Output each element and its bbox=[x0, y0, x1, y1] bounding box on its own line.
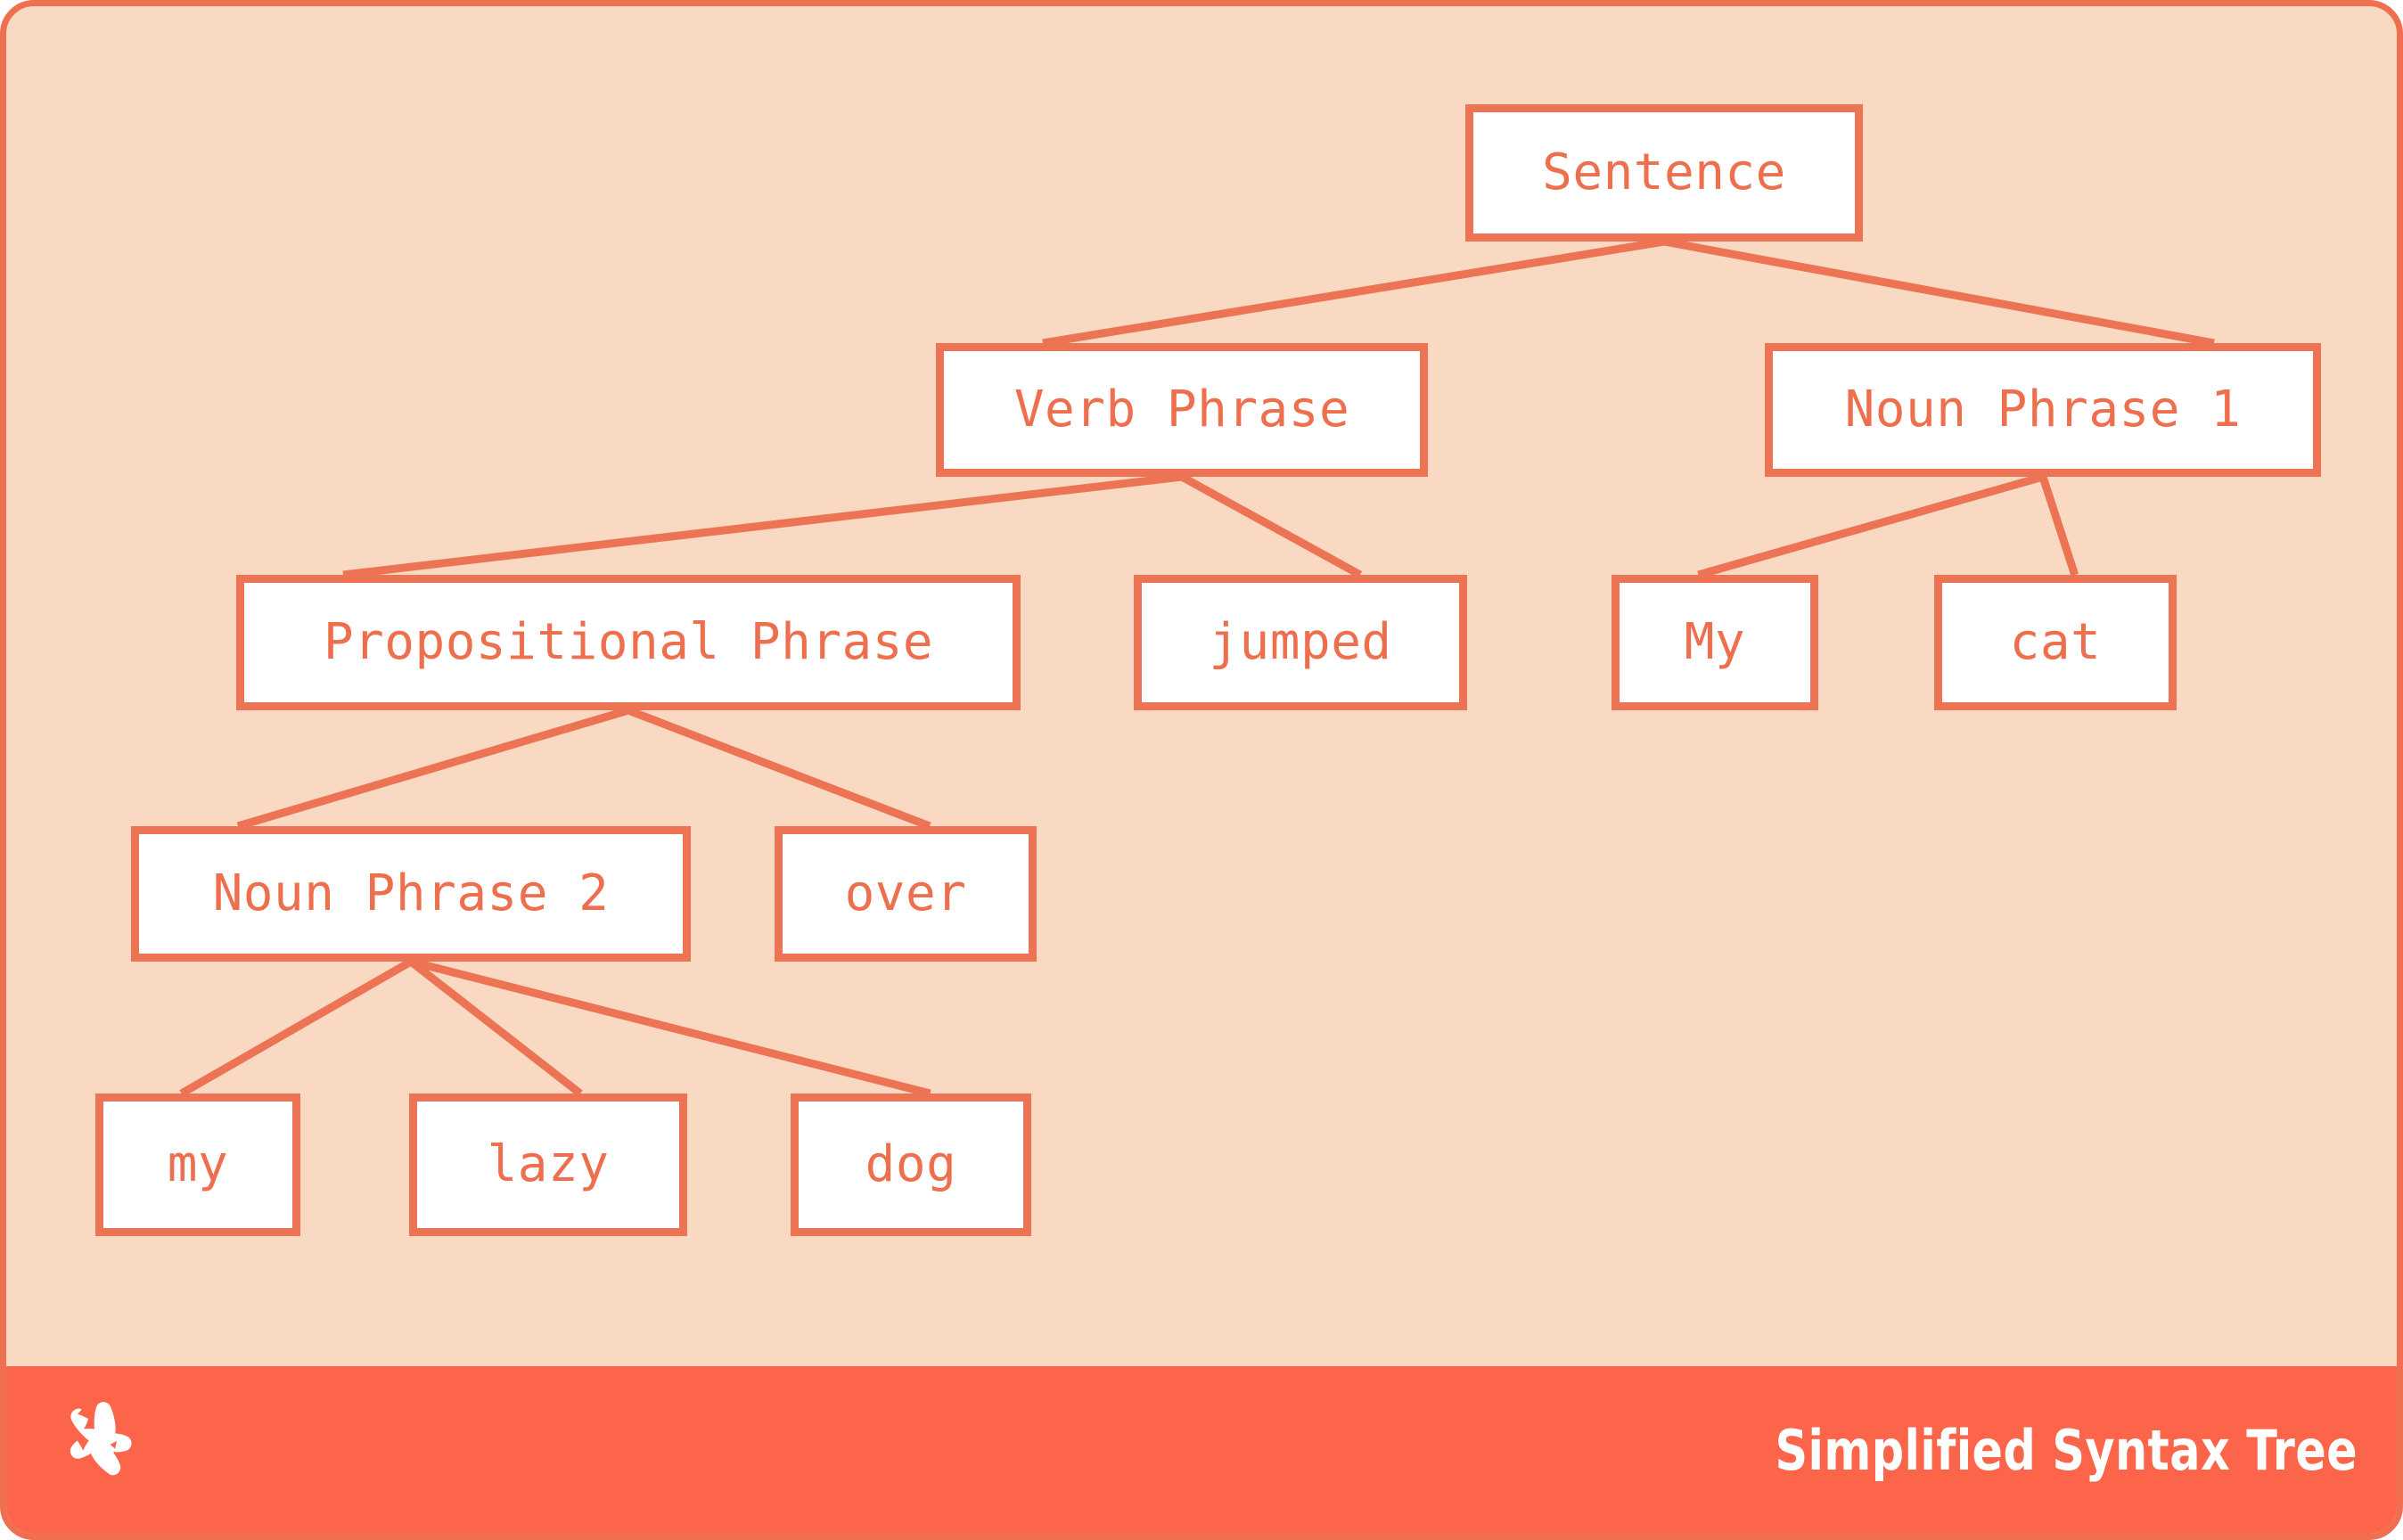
tree-edge-np2-to-lazy bbox=[411, 962, 580, 1094]
tree-edge-vp-to-pp bbox=[343, 477, 1182, 575]
tree-node-label: lazy bbox=[488, 1140, 610, 1190]
tree-node-label: Noun Phrase 1 bbox=[1845, 385, 2242, 435]
tree-node-my_det[interactable]: My bbox=[1612, 575, 1818, 710]
tree-node-jumped[interactable]: jumped bbox=[1134, 575, 1467, 710]
tree-node-pp[interactable]: Propositional Phrase bbox=[236, 575, 1021, 710]
tree-edge-pp-to-np2 bbox=[238, 710, 628, 826]
diagram-card: SentenceVerb PhraseNoun Phrase 1Proposit… bbox=[0, 0, 2403, 1540]
tree-node-sentence[interactable]: Sentence bbox=[1465, 104, 1863, 242]
tree-node-label: cat bbox=[2010, 618, 2102, 668]
tree-edge-vp-to-jumped bbox=[1182, 477, 1360, 575]
tree-node-np1[interactable]: Noun Phrase 1 bbox=[1765, 343, 2321, 477]
tree-edge-np1-to-my_det bbox=[1698, 477, 2043, 575]
tree-edge-pp-to-over bbox=[628, 710, 930, 826]
tree-edge-np2-to-dog bbox=[411, 962, 931, 1094]
tree-node-label: Noun Phrase 2 bbox=[213, 869, 610, 919]
tree-node-dog[interactable]: dog bbox=[791, 1094, 1031, 1236]
tree-edge-np1-to-cat bbox=[2043, 477, 2075, 575]
butterfly-x-logo-icon bbox=[62, 1401, 160, 1499]
tree-node-vp[interactable]: Verb Phrase bbox=[936, 343, 1428, 477]
footer-bar: Simplified Syntax Tree bbox=[6, 1366, 2403, 1534]
tree-node-np2[interactable]: Noun Phrase 2 bbox=[131, 826, 691, 962]
tree-node-label: Verb Phrase bbox=[1014, 385, 1349, 435]
tree-node-label: jumped bbox=[1209, 618, 1391, 668]
tree-node-label: my bbox=[168, 1140, 228, 1190]
tree-connector-layer bbox=[6, 6, 2403, 1540]
tree-node-over[interactable]: over bbox=[775, 826, 1037, 962]
tree-node-label: over bbox=[845, 869, 967, 919]
tree-edge-sentence-to-np1 bbox=[1664, 242, 2214, 343]
tree-node-my_leaf[interactable]: my bbox=[95, 1094, 300, 1236]
tree-node-lazy[interactable]: lazy bbox=[409, 1094, 687, 1236]
tree-edge-sentence-to-vp bbox=[1043, 242, 1664, 343]
tree-node-label: My bbox=[1685, 618, 1745, 668]
tree-node-label: Sentence bbox=[1542, 148, 1786, 198]
tree-edge-np2-to-my_leaf bbox=[182, 962, 411, 1094]
tree-node-label: dog bbox=[865, 1140, 957, 1190]
tree-node-label: Propositional Phrase bbox=[324, 618, 933, 668]
footer-title: Simplified Syntax Tree bbox=[1775, 1418, 2358, 1483]
tree-node-cat[interactable]: cat bbox=[1934, 575, 2177, 710]
